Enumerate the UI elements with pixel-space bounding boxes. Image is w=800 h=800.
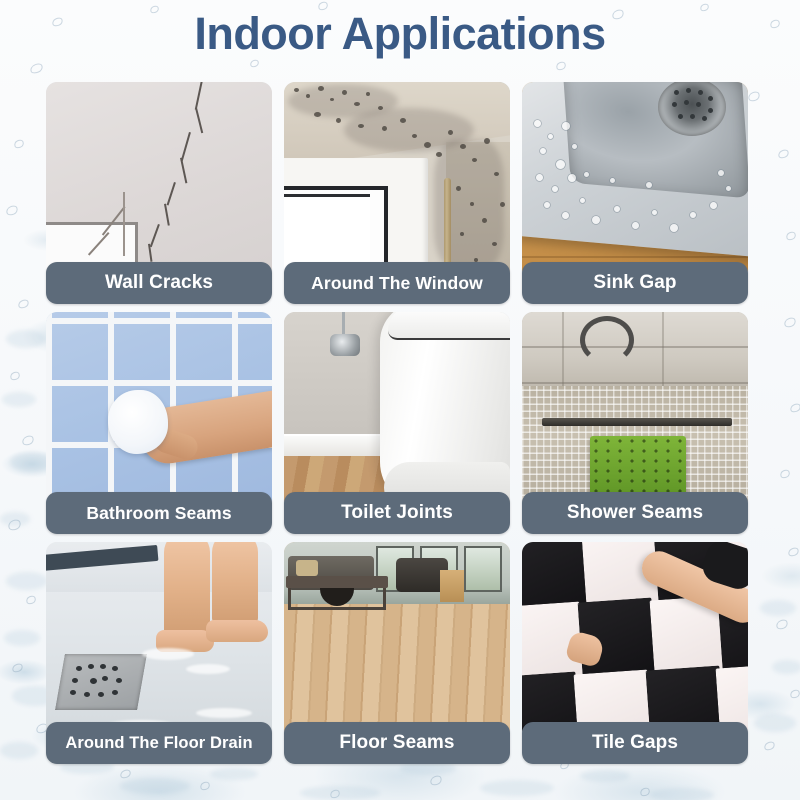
water-droplet-icon	[779, 468, 791, 479]
water-droplet-icon	[7, 518, 23, 532]
water-droplet-blur	[120, 778, 190, 794]
water-droplet-blur	[300, 786, 380, 800]
cell-label-bathroom-seams: Bathroom Seams	[46, 492, 272, 534]
application-cell-shower-seams[interactable]: Shower Seams	[522, 312, 748, 542]
cell-label-shower-seams: Shower Seams	[522, 492, 748, 534]
water-droplet-icon	[777, 148, 790, 160]
cell-label-floor-seams: Floor Seams	[284, 722, 510, 764]
water-droplet-icon	[783, 316, 797, 329]
toilet-photo	[284, 312, 510, 510]
wall-crack-photo	[46, 82, 272, 280]
tile-gaps-photo	[522, 542, 748, 740]
application-cell-bathroom-seams[interactable]: Bathroom Seams	[46, 312, 272, 542]
water-droplet-icon	[789, 688, 800, 699]
application-cell-around-the-window[interactable]: Around The Window	[284, 82, 510, 312]
cell-label-around-the-floor-drain: Around The Floor Drain	[46, 722, 272, 764]
application-cell-wall-cracks[interactable]: Wall Cracks	[46, 82, 272, 312]
water-droplet-blur	[650, 788, 714, 800]
water-droplet-icon	[555, 60, 567, 71]
water-droplet-blur	[2, 392, 36, 407]
water-droplet-icon	[13, 138, 25, 149]
poster-root: Indoor Applications	[0, 0, 800, 800]
application-cell-floor-seams[interactable]: Floor Seams	[284, 542, 510, 772]
water-droplet-icon	[17, 298, 30, 310]
water-droplet-blur	[754, 714, 796, 732]
window-mold-photo	[284, 82, 510, 280]
water-droplet-blur	[6, 572, 48, 590]
water-droplet-blur	[4, 630, 40, 646]
water-droplet-icon	[249, 59, 260, 69]
cell-label-wall-cracks: Wall Cracks	[46, 262, 272, 304]
water-droplet-icon	[9, 370, 21, 381]
water-droplet-icon	[763, 740, 776, 752]
water-droplet-blur	[0, 742, 38, 759]
water-droplet-icon	[329, 788, 341, 799]
cell-label-toilet-joints: Toilet Joints	[284, 492, 510, 534]
shower-photo	[522, 312, 748, 510]
water-droplet-blur	[760, 600, 796, 616]
water-droplet-icon	[639, 786, 651, 797]
water-droplet-icon	[785, 230, 797, 241]
water-droplet-icon	[25, 594, 37, 605]
water-droplet-icon	[429, 774, 443, 787]
application-cell-toilet-joints[interactable]: Toilet Joints	[284, 312, 510, 542]
water-droplet-blur	[6, 330, 46, 348]
cell-label-tile-gaps: Tile Gaps	[522, 722, 748, 764]
water-droplet-icon	[789, 402, 800, 414]
water-droplet-blur	[0, 512, 30, 526]
water-droplet-icon	[787, 546, 800, 558]
water-droplet-icon	[21, 434, 35, 447]
water-droplet-icon	[11, 662, 24, 674]
cell-label-sink-gap: Sink Gap	[522, 262, 748, 304]
application-cell-sink-gap[interactable]: Sink Gap	[522, 82, 748, 312]
application-cell-tile-gaps[interactable]: Tile Gaps	[522, 542, 748, 772]
blue-tile-photo	[46, 312, 272, 510]
water-droplet-icon	[5, 204, 19, 217]
water-droplet-blur	[772, 660, 800, 674]
hardwood-floor-photo	[284, 542, 510, 740]
page-title: Indoor Applications	[0, 8, 800, 60]
floor-drain-photo	[46, 542, 272, 740]
sink-photo	[522, 82, 748, 280]
application-cell-around-the-floor-drain[interactable]: Around The Floor Drain	[46, 542, 272, 772]
applications-grid: Wall Cracks	[46, 82, 754, 772]
water-droplet-icon	[29, 62, 44, 75]
water-droplet-blur	[480, 780, 554, 796]
cell-label-around-the-window: Around The Window	[284, 262, 510, 304]
water-droplet-icon	[199, 780, 211, 791]
water-droplet-icon	[775, 618, 789, 631]
